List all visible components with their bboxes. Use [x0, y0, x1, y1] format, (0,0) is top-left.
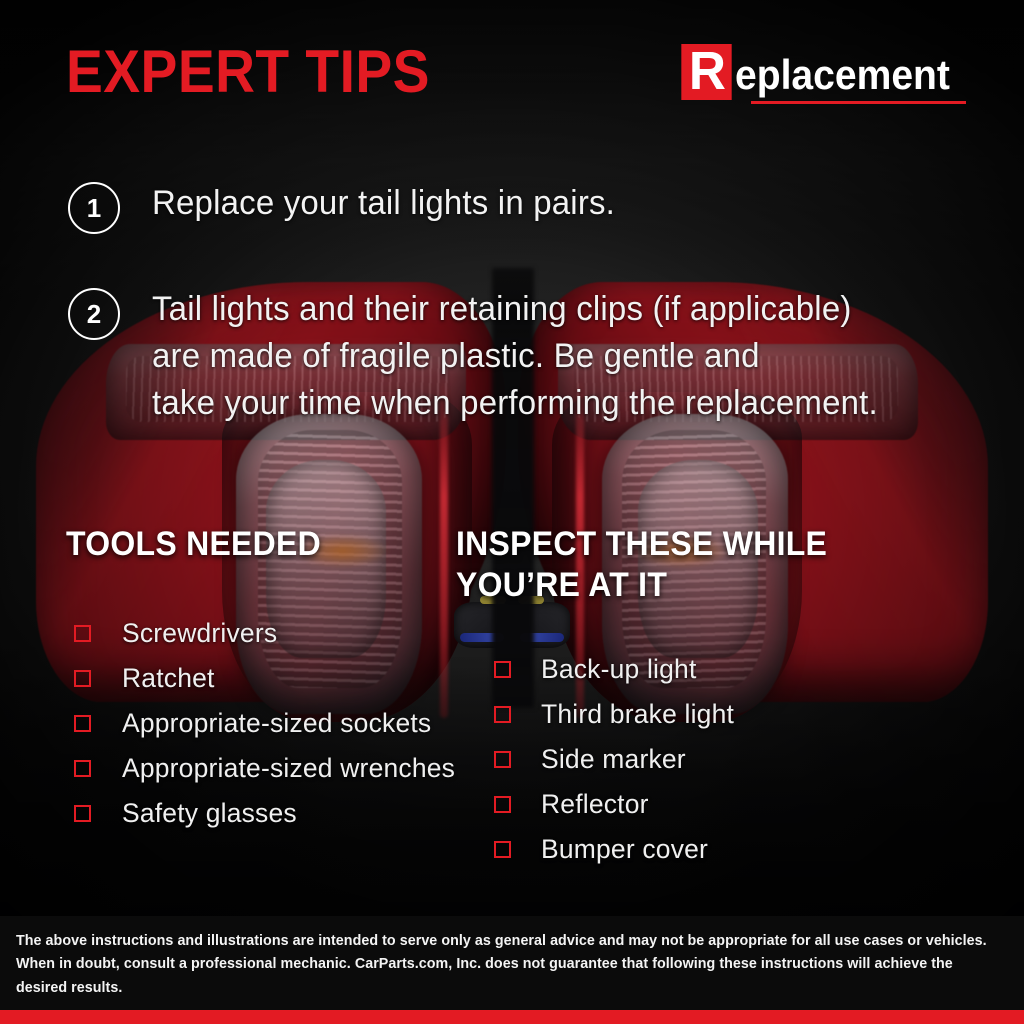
list-item: Safety glasses [74, 791, 466, 836]
checkbox-square-icon [74, 715, 91, 732]
page-title: EXPERT TIPS [66, 42, 430, 102]
list-item: Back-up light [494, 647, 876, 692]
bottom-red-bar [0, 1010, 1024, 1024]
logo-underline [751, 101, 966, 104]
checkbox-square-icon [494, 796, 511, 813]
list-item: Side marker [494, 737, 876, 782]
checkbox-square-icon [74, 625, 91, 642]
tip-text: Replace your tail lights in pairs. [152, 180, 615, 227]
tip-text: Tail lights and their retaining clips (i… [152, 286, 878, 427]
checkbox-square-icon [494, 841, 511, 858]
list-item-label: Appropriate-sized wrenches [122, 755, 455, 782]
list-item: Third brake light [494, 692, 876, 737]
list-item-label: Screwdrivers [122, 620, 277, 647]
tip-number-badge: 2 [68, 288, 120, 340]
tools-needed-list: Screwdrivers Ratchet Appropriate-sized s… [66, 611, 466, 836]
inspect-these-list: Back-up light Third brake light Side mar… [456, 647, 876, 872]
checkbox-square-icon [74, 760, 91, 777]
inspect-these-heading: INSPECT THESE WHILE YOU’RE AT IT [456, 524, 851, 607]
footer-disclaimer: The above instructions and illustrations… [0, 916, 1024, 1010]
tip-item-2: 2 Tail lights and their retaining clips … [68, 286, 900, 427]
list-item-label: Bumper cover [541, 836, 708, 863]
logo-row: R eplacement [680, 44, 966, 100]
list-item-label: Appropriate-sized sockets [122, 710, 431, 737]
inspect-these-column: INSPECT THESE WHILE YOU’RE AT IT Back-up… [456, 524, 876, 872]
tip-number-badge: 1 [68, 182, 120, 234]
checkbox-square-icon [494, 751, 511, 768]
tools-needed-column: TOOLS NEEDED Screwdrivers Ratchet Approp… [66, 524, 466, 836]
list-item: Appropriate-sized wrenches [74, 746, 466, 791]
list-item: Appropriate-sized sockets [74, 701, 466, 746]
logo-wordmark: eplacement [735, 54, 950, 100]
list-item-label: Side marker [541, 746, 686, 773]
list-item: Ratchet [74, 656, 466, 701]
checkbox-square-icon [74, 670, 91, 687]
tip-item-1: 1 Replace your tail lights in pairs. [68, 180, 629, 234]
checkbox-square-icon [494, 706, 511, 723]
list-item-label: Back-up light [541, 656, 697, 683]
list-item-label: Ratchet [122, 665, 215, 692]
disclaimer-text: The above instructions and illustrations… [16, 930, 993, 1000]
checkbox-square-icon [494, 661, 511, 678]
list-item-label: Third brake light [541, 701, 734, 728]
expert-tips-graphic: EXPERT TIPS R eplacement 1 Replace your … [0, 0, 1024, 1024]
list-item: Reflector [494, 782, 876, 827]
tools-needed-heading: TOOLS NEEDED [66, 524, 442, 565]
list-item: Screwdrivers [74, 611, 466, 656]
content-layer: EXPERT TIPS R eplacement 1 Replace your … [0, 0, 1024, 1024]
list-item: Bumper cover [494, 827, 876, 872]
list-item-label: Reflector [541, 791, 649, 818]
list-item-label: Safety glasses [122, 800, 297, 827]
replacement-logo: R eplacement [680, 44, 966, 104]
checkbox-square-icon [74, 805, 91, 822]
logo-initial-r: R [681, 44, 731, 100]
